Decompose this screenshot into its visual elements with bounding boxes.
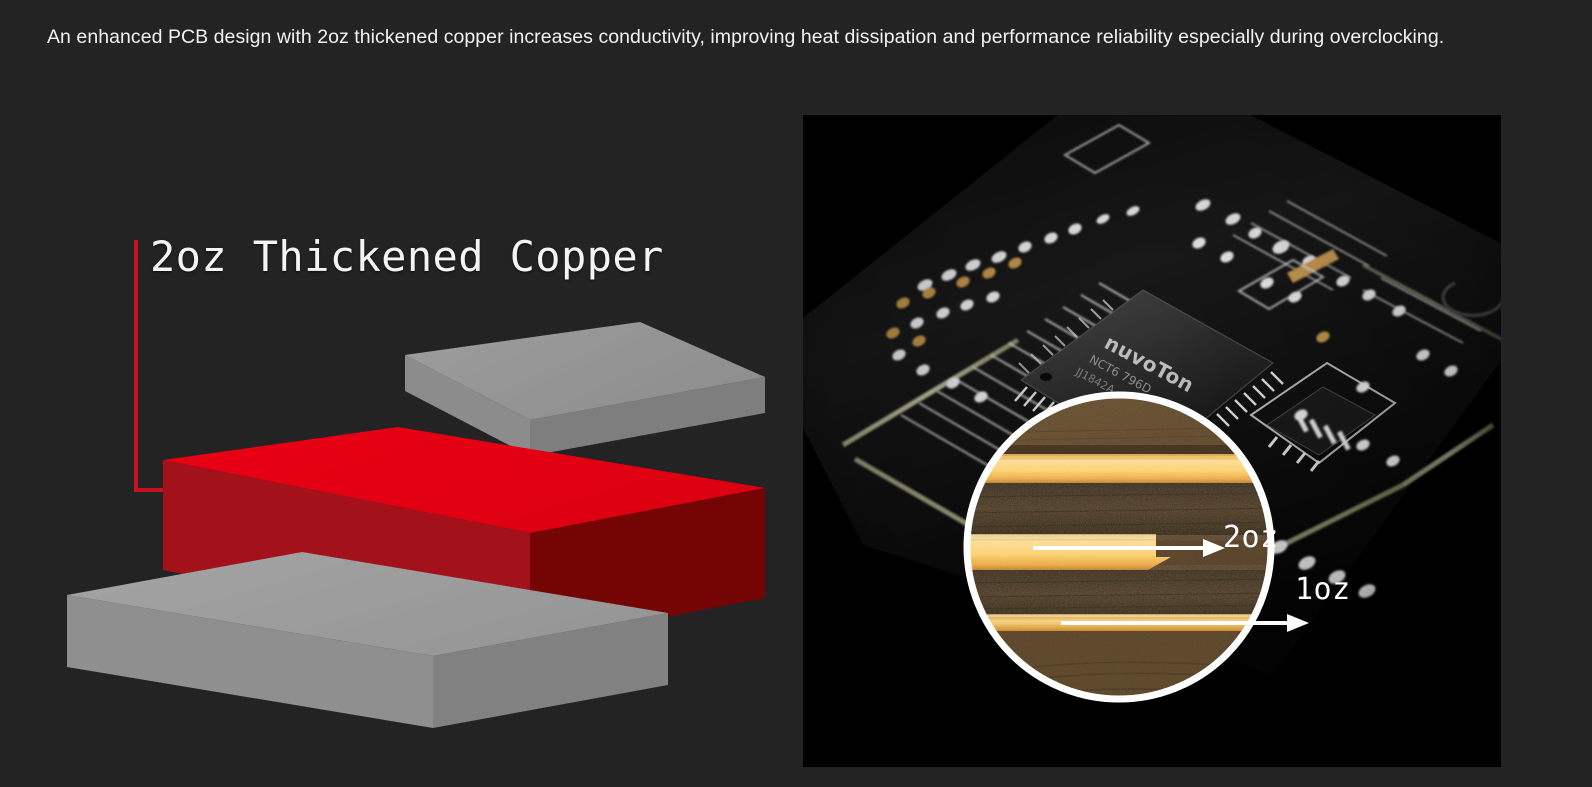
pcb-macro-photo: nuvoTon NCT6 796D JJ1842A — [803, 115, 1501, 767]
callout-label-1oz: 1oz — [1295, 575, 1351, 605]
pcb-photo-panel: nuvoTon NCT6 796D JJ1842A — [803, 115, 1501, 767]
copper-layer-illustration: 2oz Thickened Copper — [0, 90, 800, 787]
illustration-title: 2oz Thickened Copper — [150, 232, 664, 282]
slab-top-pcb — [405, 322, 765, 456]
exploded-pcb-diagram — [0, 90, 800, 787]
page-headline: An enhanced PCB design with 2oz thickene… — [47, 24, 1547, 50]
callout-label-2oz: 2oz — [1223, 523, 1279, 553]
